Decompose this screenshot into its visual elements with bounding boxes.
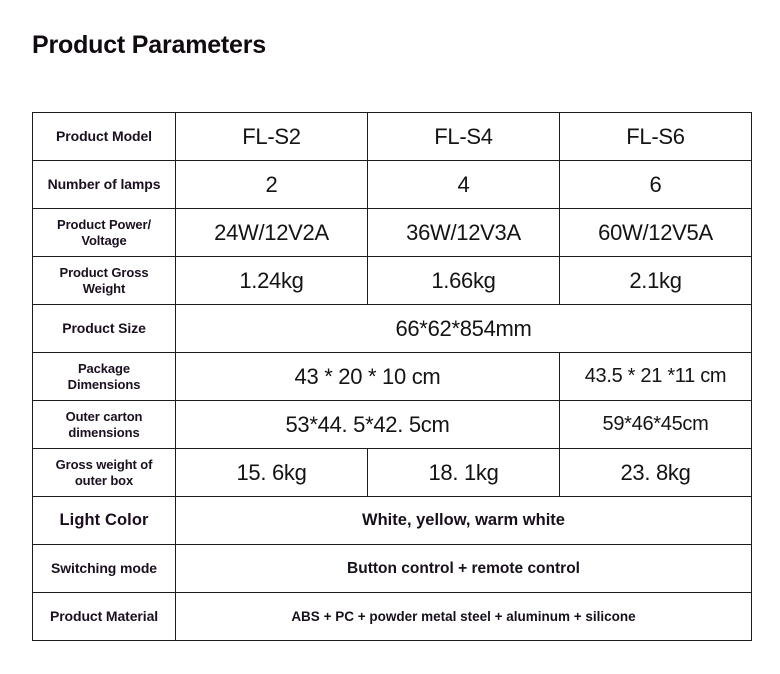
- table-row-light-color: Light Color White, yellow, warm white: [33, 497, 752, 545]
- table-row-number-of-lamps: Number of lamps 2 4 6: [33, 161, 752, 209]
- row-label-gross-weight-outer-box: Gross weight of outer box: [33, 449, 176, 497]
- page-title: Product Parameters: [32, 31, 266, 60]
- product-parameters-page: Product Parameters Product Model FL-S2 F…: [0, 0, 780, 674]
- cell-product-model-s2: FL-S2: [176, 113, 368, 161]
- cell-package-dimensions-s2-s4: 43 * 20 * 10 cm: [176, 353, 560, 401]
- table-row-product-size: Product Size 66*62*854mm: [33, 305, 752, 353]
- cell-gross-weight-s6: 2.1kg: [560, 257, 752, 305]
- product-parameters-table: Product Model FL-S2 FL-S4 FL-S6 Number o…: [32, 112, 752, 641]
- cell-number-of-lamps-s4: 4: [368, 161, 560, 209]
- cell-product-size-all: 66*62*854mm: [176, 305, 752, 353]
- table-row-product-material: Product Material ABS + PC + powder metal…: [33, 593, 752, 641]
- cell-number-of-lamps-s2: 2: [176, 161, 368, 209]
- table-row-product-gross-weight: Product Gross Weight 1.24kg 1.66kg 2.1kg: [33, 257, 752, 305]
- cell-outer-box-weight-s4: 18. 1kg: [368, 449, 560, 497]
- row-label-number-of-lamps: Number of lamps: [33, 161, 176, 209]
- row-label-line1: Product Gross: [37, 265, 171, 280]
- row-label-line2: dimensions: [37, 425, 171, 440]
- row-label-package-dimensions: Package Dimensions: [33, 353, 176, 401]
- table-row-outer-carton-dimensions: Outer carton dimensions 53*44. 5*42. 5cm…: [33, 401, 752, 449]
- cell-product-model-s6: FL-S6: [560, 113, 752, 161]
- row-label-line1: Product Power/: [37, 217, 171, 232]
- row-label-line2: Dimensions: [37, 377, 171, 392]
- cell-light-color-all: White, yellow, warm white: [176, 497, 752, 545]
- row-label-product-model: Product Model: [33, 113, 176, 161]
- cell-outer-box-weight-s2: 15. 6kg: [176, 449, 368, 497]
- cell-gross-weight-s4: 1.66kg: [368, 257, 560, 305]
- cell-product-material-all: ABS + PC + powder metal steel + aluminum…: [176, 593, 752, 641]
- table-row-package-dimensions: Package Dimensions 43 * 20 * 10 cm 43.5 …: [33, 353, 752, 401]
- table-row-product-model: Product Model FL-S2 FL-S4 FL-S6: [33, 113, 752, 161]
- row-label-outer-carton-dimensions: Outer carton dimensions: [33, 401, 176, 449]
- row-label-product-material: Product Material: [33, 593, 176, 641]
- cell-power-voltage-s2: 24W/12V2A: [176, 209, 368, 257]
- cell-outer-carton-s2-s4: 53*44. 5*42. 5cm: [176, 401, 560, 449]
- row-label-line1: Outer carton: [37, 409, 171, 424]
- table-row-gross-weight-outer-box: Gross weight of outer box 15. 6kg 18. 1k…: [33, 449, 752, 497]
- table-row-switching-mode: Switching mode Button control + remote c…: [33, 545, 752, 593]
- cell-outer-box-weight-s6: 23. 8kg: [560, 449, 752, 497]
- cell-power-voltage-s6: 60W/12V5A: [560, 209, 752, 257]
- row-label-line1: Package: [37, 361, 171, 376]
- row-label-switching-mode: Switching mode: [33, 545, 176, 593]
- row-label-product-gross-weight: Product Gross Weight: [33, 257, 176, 305]
- cell-outer-carton-s6: 59*46*45cm: [560, 401, 752, 449]
- cell-package-dimensions-s6: 43.5 * 21 *11 cm: [560, 353, 752, 401]
- row-label-line1: Gross weight of: [37, 457, 171, 472]
- cell-number-of-lamps-s6: 6: [560, 161, 752, 209]
- cell-product-model-s4: FL-S4: [368, 113, 560, 161]
- cell-switching-mode-all: Button control + remote control: [176, 545, 752, 593]
- row-label-line2: Voltage: [37, 233, 171, 248]
- cell-gross-weight-s2: 1.24kg: [176, 257, 368, 305]
- table-row-product-power-voltage: Product Power/ Voltage 24W/12V2A 36W/12V…: [33, 209, 752, 257]
- row-label-product-power-voltage: Product Power/ Voltage: [33, 209, 176, 257]
- row-label-line2: outer box: [37, 473, 171, 488]
- row-label-light-color: Light Color: [33, 497, 176, 545]
- row-label-product-size: Product Size: [33, 305, 176, 353]
- row-label-line2: Weight: [37, 281, 171, 296]
- cell-power-voltage-s4: 36W/12V3A: [368, 209, 560, 257]
